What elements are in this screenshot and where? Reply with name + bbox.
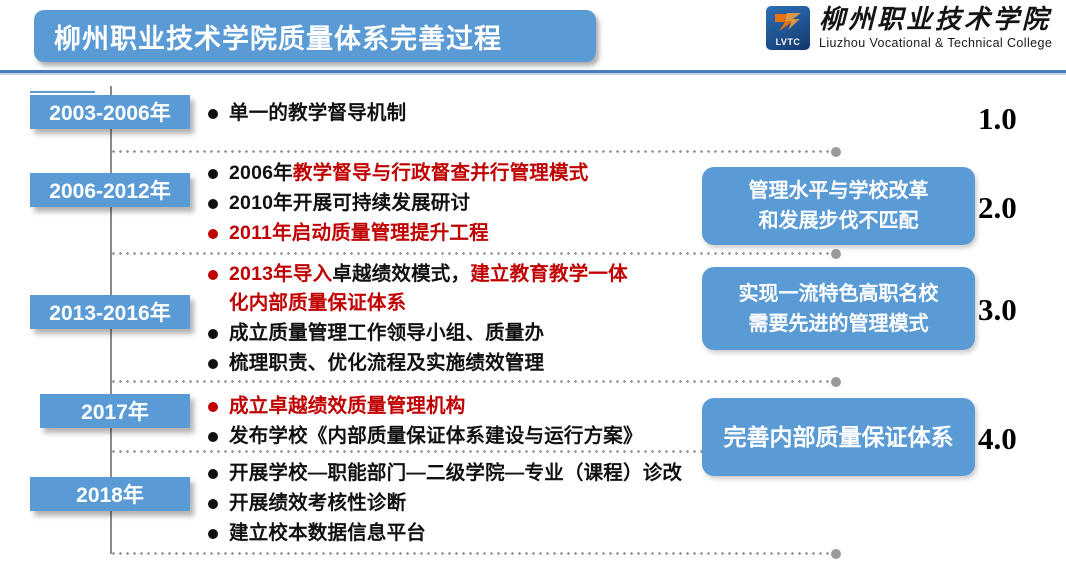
timeline-separator-5 <box>110 552 836 555</box>
bullet-text: 发布学校《内部质量保证体系建设与运行方案》 <box>229 422 643 451</box>
bullet-text: 建立校本数据信息平台 <box>229 519 426 548</box>
list-item: 2010年开展可持续发展研讨 <box>208 189 588 218</box>
bullet-dot-icon <box>208 109 218 119</box>
slide-title-box: 柳州职业技术学院质量体系完善过程 <box>34 10 596 62</box>
bullet-group-2006-2012: 2006年教学督导与行政督查并行管理模式 2010年开展可持续发展研讨 2011… <box>208 159 588 249</box>
bullet-text: 2006年教学督导与行政督查并行管理模式 <box>229 159 588 188</box>
list-item: 开展绩效考核性诊断 <box>208 489 682 518</box>
list-item: 2011年启动质量管理提升工程 <box>208 219 588 248</box>
bullet-dot-icon <box>208 469 218 479</box>
bullet-dot-icon <box>208 329 218 339</box>
bullet-dot-icon <box>208 432 218 442</box>
bullet-dot-icon <box>208 229 218 239</box>
list-item: 开展学校—职能部门—二级学院—专业（课程）诊改 <box>208 459 682 488</box>
bullet-dot-icon <box>208 270 218 280</box>
list-item: 发布学校《内部质量保证体系建设与运行方案》 <box>208 422 643 451</box>
year-chip-2003-2006[interactable]: 2003-2006年 <box>30 95 190 129</box>
version-label-4: 4.0 <box>978 421 1017 457</box>
logo-english-name: Liuzhou Vocational & Technical College <box>819 36 1052 50</box>
bullet-dot-icon <box>208 499 218 509</box>
separator-endcap-dot <box>831 549 841 559</box>
year-chip-label: 2018年 <box>76 479 144 509</box>
header-divider-light <box>0 73 1066 75</box>
timeline-separator-2 <box>110 252 836 255</box>
bullet-dot-icon <box>208 359 218 369</box>
bullet-group-2018: 开展学校—职能部门—二级学院—专业（课程）诊改 开展绩效考核性诊断 建立校本数据… <box>208 459 682 549</box>
list-item: 2013年导入卓越绩效模式，建立教育教学一体 化内部质量保证体系 <box>208 260 628 318</box>
year-chip-2018[interactable]: 2018年 <box>30 477 190 511</box>
year-chip-label: 2017年 <box>81 396 149 426</box>
list-item: 单一的教学督导机制 <box>208 99 406 128</box>
list-item: 2006年教学督导与行政督查并行管理模式 <box>208 159 588 188</box>
bullet-text: 梳理职责、优化流程及实施绩效管理 <box>229 349 544 378</box>
version-label-1: 1.0 <box>978 101 1017 137</box>
bullet-dot-icon <box>208 402 218 412</box>
logo-chinese-name: 柳州职业技术学院 <box>819 6 1052 33</box>
list-item: 梳理职责、优化流程及实施绩效管理 <box>208 349 628 378</box>
version-label-2: 2.0 <box>978 190 1017 226</box>
list-item: 成立卓越绩效质量管理机构 <box>208 392 643 421</box>
page-title: 柳州职业技术学院质量体系完善过程 <box>54 17 502 56</box>
timeline-separator-1 <box>110 150 836 153</box>
callout-text: 实现一流特色高职名校 需要先进的管理模式 <box>739 279 939 339</box>
lightning-bolt-icon <box>773 11 803 33</box>
callout-text: 管理水平与学校改革 和发展步伐不匹配 <box>749 176 929 236</box>
bullet-group-2017: 成立卓越绩效质量管理机构 发布学校《内部质量保证体系建设与运行方案》 <box>208 392 643 452</box>
separator-endcap-dot <box>831 377 841 387</box>
slide-canvas: 柳州职业技术学院质量体系完善过程 LVTC 柳州职业技术学院 Liuzhou V… <box>0 0 1066 586</box>
list-item: 成立质量管理工作领导小组、质量办 <box>208 319 628 348</box>
bullet-dot-icon <box>208 199 218 209</box>
separator-endcap-dot <box>831 249 841 259</box>
lvtc-badge-icon: LVTC <box>766 6 810 50</box>
bullet-group-2013-2016: 2013年导入卓越绩效模式，建立教育教学一体 化内部质量保证体系 成立质量管理工… <box>208 260 628 379</box>
year-chip-2017[interactable]: 2017年 <box>40 394 190 428</box>
bullet-text: 2011年启动质量管理提升工程 <box>229 219 489 248</box>
lvtc-badge-text: LVTC <box>766 37 810 47</box>
year-chip-label: 2013-2016年 <box>49 297 170 327</box>
bullet-dot-icon <box>208 529 218 539</box>
institution-logo: LVTC 柳州职业技术学院 Liuzhou Vocational & Techn… <box>766 6 1052 50</box>
bullet-text: 开展学校—职能部门—二级学院—专业（课程）诊改 <box>229 459 682 488</box>
header-accent-stub <box>30 91 95 93</box>
bullet-text: 开展绩效考核性诊断 <box>229 489 406 518</box>
bullet-text: 2010年开展可持续发展研讨 <box>229 189 470 218</box>
year-chip-2006-2012[interactable]: 2006-2012年 <box>30 173 190 207</box>
bullet-text: 成立质量管理工作领导小组、质量办 <box>229 319 544 348</box>
version-label-3: 3.0 <box>978 292 1017 328</box>
bullet-text: 单一的教学督导机制 <box>229 99 406 128</box>
callout-text: 完善内部质量保证体系 <box>724 422 954 452</box>
callout-box-3[interactable]: 实现一流特色高职名校 需要先进的管理模式 <box>702 267 975 350</box>
separator-endcap-dot <box>831 147 841 157</box>
list-item: 建立校本数据信息平台 <box>208 519 682 548</box>
callout-box-4[interactable]: 完善内部质量保证体系 <box>702 398 975 476</box>
year-chip-label: 2003-2006年 <box>49 97 170 127</box>
bullet-text: 成立卓越绩效质量管理机构 <box>229 392 465 421</box>
callout-box-2[interactable]: 管理水平与学校改革 和发展步伐不匹配 <box>702 167 975 245</box>
year-chip-label: 2006-2012年 <box>49 175 170 205</box>
bullet-group-2003-2006: 单一的教学督导机制 <box>208 99 406 129</box>
year-chip-2013-2016[interactable]: 2013-2016年 <box>30 295 190 329</box>
timeline-separator-3 <box>110 380 836 383</box>
bullet-text: 2013年导入卓越绩效模式，建立教育教学一体 化内部质量保证体系 <box>229 260 628 318</box>
bullet-dot-icon <box>208 169 218 179</box>
